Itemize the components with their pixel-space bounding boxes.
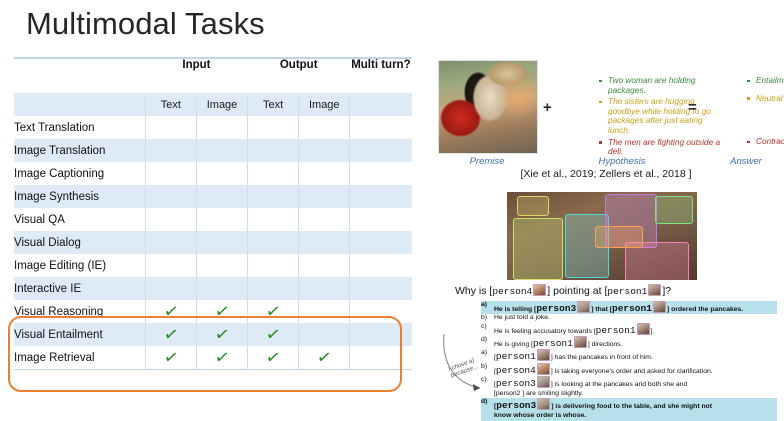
cell-multi-turn bbox=[350, 300, 412, 323]
header-output: Output bbox=[248, 58, 350, 93]
task-label: Image Captioning bbox=[14, 162, 145, 185]
check-icon: ✓ bbox=[265, 326, 282, 345]
cell-output-text bbox=[248, 208, 299, 231]
cell-output-image bbox=[299, 277, 350, 300]
rationale-person-tag: person4 bbox=[496, 365, 536, 376]
table-row[interactable]: Visual QA bbox=[14, 208, 412, 231]
table-row[interactable]: Image Synthesis bbox=[14, 185, 412, 208]
header-blank bbox=[14, 58, 145, 93]
vcr-answer-options: a)He is telling [person3] that [person1]… bbox=[481, 301, 777, 350]
person-thumbnail-icon bbox=[537, 376, 550, 388]
question-suffix: ]? bbox=[662, 285, 671, 297]
answer-option[interactable]: b)He just told a joke. bbox=[481, 314, 777, 322]
answer-item-entailment: Entailment bbox=[746, 76, 784, 86]
cell-input-image bbox=[196, 254, 247, 277]
rationale-label: c) bbox=[481, 376, 492, 385]
option-text-pre: He is telling [ bbox=[494, 306, 536, 313]
task-label: Visual Reasoning bbox=[14, 300, 145, 323]
cell-input-text bbox=[145, 208, 196, 231]
answer-option[interactable]: c)He is feeling accusatory towards [pers… bbox=[481, 323, 777, 336]
cell-output-text: ✓ bbox=[248, 300, 299, 323]
answer-item-neutral: Neutral bbox=[746, 94, 784, 104]
cell-input-image: ✓ bbox=[196, 300, 247, 323]
rationale-label: d) bbox=[481, 398, 492, 407]
cell-output-text: ✓ bbox=[248, 346, 299, 370]
rationale-option[interactable]: c)[person3] is looking at the pancakes a… bbox=[481, 376, 777, 398]
cell-input-image bbox=[196, 231, 247, 254]
table-group-header-row: Input Output Multi turn? bbox=[14, 58, 412, 93]
cell-output-image bbox=[299, 254, 350, 277]
table-row[interactable]: Image Captioning bbox=[14, 162, 412, 185]
option-text-mid: ] that [ bbox=[591, 306, 612, 313]
answer-option[interactable]: d)He is giving [person1] directions. bbox=[481, 336, 777, 349]
premise-image-glow bbox=[501, 79, 535, 125]
rationale-text-post: ] is taking everyone's order and asked f… bbox=[551, 368, 713, 375]
check-icon: ✓ bbox=[213, 349, 230, 368]
page-title: Multimodal Tasks bbox=[26, 6, 265, 42]
task-label: Visual Entailment bbox=[14, 323, 145, 346]
table-row[interactable]: Interactive IE bbox=[14, 277, 412, 300]
task-label: Visual QA bbox=[14, 208, 145, 231]
check-icon: ✓ bbox=[213, 326, 230, 345]
person-thumbnail-icon bbox=[653, 301, 666, 313]
check-icon: ✓ bbox=[316, 349, 333, 368]
task-label: Text Translation bbox=[14, 116, 145, 139]
cell-output-image: ✓ bbox=[299, 346, 350, 370]
cell-input-text bbox=[145, 231, 196, 254]
header-multi-turn: Multi turn? bbox=[350, 58, 412, 93]
slide-canvas: Multimodal Tasks Input Output Multi turn… bbox=[0, 0, 784, 409]
cell-multi-turn bbox=[350, 277, 412, 300]
check-icon: ✓ bbox=[162, 303, 179, 322]
cell-output-text bbox=[248, 231, 299, 254]
cell-output-image bbox=[299, 208, 350, 231]
answer-list: Entailment Neutral Contradiction bbox=[706, 76, 784, 147]
table-row[interactable]: Image Editing (IE) bbox=[14, 254, 412, 277]
cell-output-image bbox=[299, 162, 350, 185]
cell-input-text bbox=[145, 139, 196, 162]
caption-premise: Premise bbox=[438, 156, 536, 167]
cell-output-text bbox=[248, 254, 299, 277]
vcr-rationale-options: a)[person1] has the pancakes in front of… bbox=[481, 349, 777, 421]
plus-operator: + bbox=[543, 99, 552, 116]
table-row[interactable]: Visual Dialog bbox=[14, 231, 412, 254]
hypothesis-list: Two woman are holding packages. The sist… bbox=[558, 76, 726, 159]
cell-input-image bbox=[196, 208, 247, 231]
question-middle: ] pointing at [ bbox=[547, 285, 607, 297]
option-label: a) bbox=[481, 301, 492, 309]
table-row[interactable]: Visual Reasoning ✓ ✓ ✓ bbox=[14, 300, 412, 323]
option-text-post: ] ordered the pancakes. bbox=[667, 306, 743, 313]
task-label: Image Editing (IE) bbox=[14, 254, 145, 277]
cell-output-image bbox=[299, 139, 350, 162]
subheader-input-image: Image bbox=[196, 93, 247, 116]
rationale-text-post: ] is looking at the pancakes and both sh… bbox=[551, 381, 687, 388]
cell-input-image bbox=[196, 162, 247, 185]
segmentation-box-shelf bbox=[517, 196, 549, 216]
segmentation-box-person3 bbox=[513, 218, 563, 280]
cell-output-image bbox=[299, 300, 350, 323]
header-input: Input bbox=[145, 58, 247, 93]
rationale-option[interactable]: a)[person1] has the pancakes in front of… bbox=[481, 349, 777, 363]
person-thumbnail-icon bbox=[637, 323, 650, 335]
subheader-blank bbox=[14, 93, 145, 116]
subheader-multi-turn bbox=[350, 93, 412, 116]
cell-input-text bbox=[145, 277, 196, 300]
cell-multi-turn bbox=[350, 185, 412, 208]
cell-input-image bbox=[196, 139, 247, 162]
cell-input-image: ✓ bbox=[196, 346, 247, 370]
question-prefix: Why is [ bbox=[455, 285, 492, 297]
cell-input-text: ✓ bbox=[145, 346, 196, 370]
option-text-pre: He is feeling accusatory towards [ bbox=[494, 328, 596, 335]
table-body: Text Translation Image Translation bbox=[14, 116, 412, 370]
table-row[interactable]: Text Translation bbox=[14, 116, 412, 139]
subheader-output-image: Image bbox=[299, 93, 350, 116]
person-thumbnail-icon bbox=[537, 363, 550, 375]
task-label: Image Retrieval bbox=[14, 346, 145, 370]
rationale-person-tag: person1 bbox=[496, 351, 536, 362]
task-label: Interactive IE bbox=[14, 277, 145, 300]
rationale-text-post: ] has the pancakes in front of him. bbox=[551, 354, 653, 361]
check-icon: ✓ bbox=[213, 303, 230, 322]
cell-input-image bbox=[196, 116, 247, 139]
task-label: Image Synthesis bbox=[14, 185, 145, 208]
question-person-tag-a: person4 bbox=[492, 286, 532, 297]
cell-input-text bbox=[145, 254, 196, 277]
cell-multi-turn bbox=[350, 139, 412, 162]
cell-input-image bbox=[196, 277, 247, 300]
option-person-tag: person1 bbox=[612, 303, 652, 314]
rationale-text-line2: [person2 ] are smiling slightly. bbox=[494, 390, 775, 399]
option-person-tag: person1 bbox=[596, 325, 636, 336]
task-label: Visual Dialog bbox=[14, 231, 145, 254]
caption-answer: Answer bbox=[706, 156, 784, 167]
option-text-post: ]. bbox=[651, 328, 655, 335]
cell-input-image bbox=[196, 185, 247, 208]
cell-input-text: ✓ bbox=[145, 300, 196, 323]
cell-output-image bbox=[299, 116, 350, 139]
cell-multi-turn bbox=[350, 323, 412, 346]
cell-input-text bbox=[145, 116, 196, 139]
check-icon: ✓ bbox=[265, 349, 282, 368]
subheader-input-text: Text bbox=[145, 93, 196, 116]
cell-output-image bbox=[299, 323, 350, 346]
cell-multi-turn bbox=[350, 346, 412, 370]
cell-multi-turn bbox=[350, 162, 412, 185]
multimodal-tasks-table-wrap: Input Output Multi turn? Text Image Text… bbox=[14, 57, 412, 370]
cell-input-image: ✓ bbox=[196, 323, 247, 346]
cell-multi-turn bbox=[350, 208, 412, 231]
cell-multi-turn bbox=[350, 231, 412, 254]
table-row[interactable]: Visual Entailment ✓ ✓ ✓ bbox=[14, 323, 412, 346]
multimodal-tasks-table: Input Output Multi turn? Text Image Text… bbox=[14, 57, 412, 370]
rationale-text-post: ] is delivering food to the table, and s… bbox=[551, 403, 712, 410]
table-row[interactable]: Image Retrieval ✓ ✓ ✓ ✓ bbox=[14, 346, 412, 370]
question-person-tag-b: person1 bbox=[607, 286, 647, 297]
rationale-person-tag: person3 bbox=[496, 378, 536, 389]
cell-output-text bbox=[248, 139, 299, 162]
option-text-post: ] directions. bbox=[588, 341, 623, 348]
option-person-tag: person1 bbox=[533, 338, 573, 349]
cell-input-text: ✓ bbox=[145, 323, 196, 346]
check-icon: ✓ bbox=[162, 326, 179, 345]
rationale-option[interactable]: d)[person3] is delivering food to the ta… bbox=[481, 398, 777, 420]
cell-output-text bbox=[248, 277, 299, 300]
person-thumbnail-icon bbox=[648, 284, 661, 296]
segmentation-box-plate bbox=[595, 226, 643, 248]
caption-hypothesis: Hypothesis bbox=[558, 156, 686, 167]
answer-item-contradiction: Contradiction bbox=[746, 137, 784, 147]
rationale-label: a) bbox=[481, 349, 492, 358]
person-thumbnail-icon bbox=[537, 349, 550, 361]
subheader-output-text: Text bbox=[248, 93, 299, 116]
cell-output-image bbox=[299, 231, 350, 254]
vcr-scene-image bbox=[507, 192, 697, 280]
rationale-option[interactable]: b)[person4] is taking everyone's order a… bbox=[481, 363, 777, 377]
table-head: Input Output Multi turn? Text Image Text… bbox=[14, 58, 412, 116]
cell-output-text bbox=[248, 116, 299, 139]
cell-input-text bbox=[145, 185, 196, 208]
rationale-label: b) bbox=[481, 363, 492, 372]
option-person-tag: person3 bbox=[536, 303, 576, 314]
person-thumbnail-icon bbox=[574, 336, 587, 348]
premise-image bbox=[438, 60, 538, 154]
cell-output-text: ✓ bbox=[248, 323, 299, 346]
check-icon: ✓ bbox=[162, 349, 179, 368]
cell-output-image bbox=[299, 185, 350, 208]
visual-entailment-figure: + Two woman are holding packages. The si… bbox=[432, 58, 780, 178]
equals-operator: = bbox=[688, 99, 697, 116]
vcr-question: Why is [person4] pointing at [person1]? bbox=[455, 284, 775, 297]
cell-multi-turn bbox=[350, 254, 412, 277]
option-label: b) bbox=[481, 314, 492, 322]
cell-input-text bbox=[145, 162, 196, 185]
cell-output-text bbox=[248, 162, 299, 185]
person-thumbnail-icon bbox=[577, 301, 590, 313]
task-label: Image Translation bbox=[14, 139, 145, 162]
segmentation-box-background bbox=[655, 196, 693, 224]
cell-output-text bbox=[248, 185, 299, 208]
table-row[interactable]: Image Translation bbox=[14, 139, 412, 162]
cell-multi-turn bbox=[350, 116, 412, 139]
answer-option[interactable]: a)He is telling [person3] that [person1]… bbox=[481, 301, 777, 314]
rationale-person-tag: person3 bbox=[496, 400, 536, 411]
check-icon: ✓ bbox=[265, 303, 282, 322]
citation-text: [Xie et al., 2019; Zellers et al., 2018 … bbox=[432, 168, 780, 180]
person-thumbnail-icon bbox=[533, 284, 546, 296]
rationale-text-line2: know whose order is whose. bbox=[494, 412, 775, 421]
table-sub-header-row: Text Image Text Image bbox=[14, 93, 412, 116]
option-text-pre: He just told a joke. bbox=[494, 314, 550, 321]
